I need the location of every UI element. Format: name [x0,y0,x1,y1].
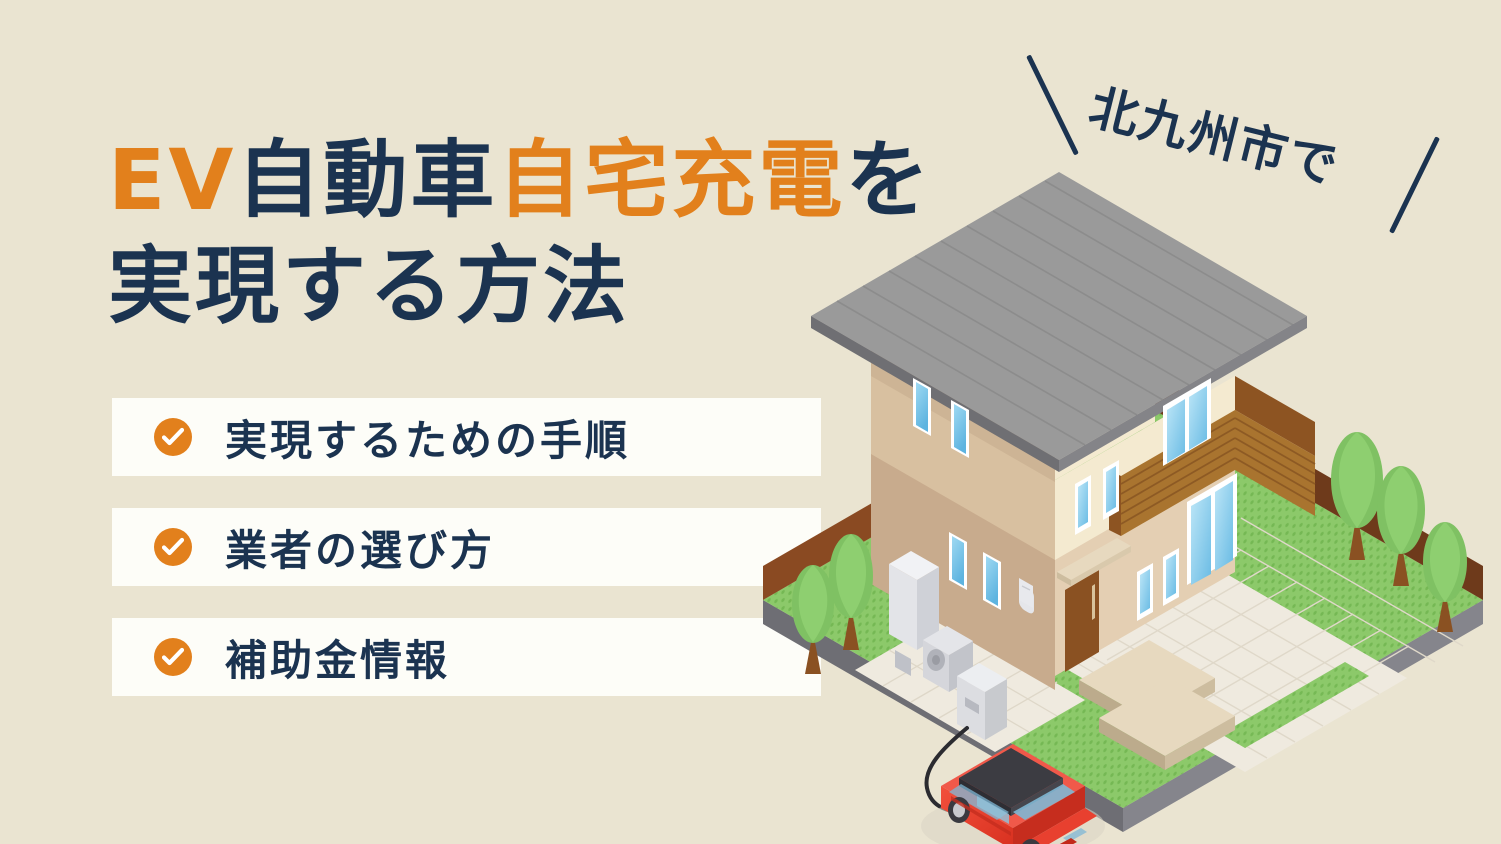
check-circle-icon [154,528,192,566]
list-item-label: 実現するための手順 [225,407,630,468]
list-item[interactable]: 業者の選び方 [112,508,821,586]
poster-canvas: 北九州市で EV自動車自宅充電を 実現する方法 実現するための手順 業者の選び方 [0,0,1501,844]
list-item-label: 業者の選び方 [225,517,495,578]
list-item[interactable]: 補助金情報 [112,618,821,696]
headline-seg-method: 実現する方法 [108,237,630,335]
check-circle-icon [154,638,192,676]
list-item[interactable]: 実現するための手順 [112,398,821,476]
check-circle-icon [154,418,192,456]
feature-list: 実現するための手順 業者の選び方 補助金情報 [112,398,821,728]
headline-seg-ev: EV [108,131,236,229]
isometric-house-illustration [745,120,1501,844]
list-item-label: 補助金情報 [225,627,450,688]
headline-seg-car: 自動車 [236,131,497,229]
